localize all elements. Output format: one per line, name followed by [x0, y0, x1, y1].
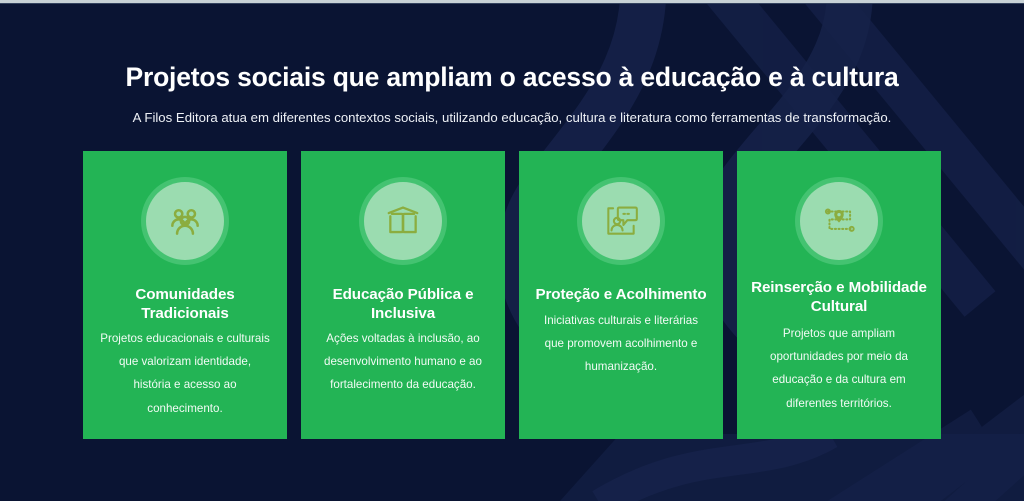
icon-ring — [577, 177, 665, 265]
route-map-pin-icon — [820, 202, 858, 240]
card-description: Projetos educacionais e culturais que va… — [93, 327, 277, 420]
icon-circle — [800, 182, 878, 260]
icon-ring — [359, 177, 447, 265]
card-description: Iniciativas culturais e literárias que p… — [529, 309, 713, 379]
project-cards-row: Comunidades Tradicionais Projetos educac… — [0, 151, 1024, 439]
card-title: Proteção e Acolhimento — [529, 286, 713, 305]
icon-circle — [582, 182, 660, 260]
card-title: Comunidades Tradicionais — [93, 286, 277, 323]
icon-circle — [146, 182, 224, 260]
card-description: Projetos que ampliam oportunidades por m… — [747, 322, 931, 415]
person-chat-icon — [602, 202, 640, 240]
card-description: Ações voltadas à inclusão, ao desenvolvi… — [311, 327, 495, 397]
icon-ring — [795, 177, 883, 265]
project-card-educacao-publica-inclusiva[interactable]: Educação Pública e Inclusiva Ações volta… — [301, 151, 505, 439]
page-subtitle: A Filos Editora atua em diferentes conte… — [0, 109, 1024, 126]
icon-circle — [364, 182, 442, 260]
project-card-reinsercao-mobilidade-cultural[interactable]: Reinserção e Mobilidade Cultural Projeto… — [737, 151, 941, 439]
card-title: Reinserção e Mobilidade Cultural — [747, 279, 931, 316]
card-title: Educação Pública e Inclusiva — [311, 286, 495, 323]
project-card-protecao-acolhimento[interactable]: Proteção e Acolhimento Iniciativas cultu… — [519, 151, 723, 439]
page-canvas: Projetos sociais que ampliam o acesso à … — [0, 4, 1024, 501]
page-title: Projetos sociais que ampliam o acesso à … — [0, 62, 1024, 94]
open-book-icon — [384, 202, 422, 240]
people-group-icon — [166, 202, 204, 240]
project-card-comunidades-tradicionais[interactable]: Comunidades Tradicionais Projetos educac… — [83, 151, 287, 439]
content-area: Projetos sociais que ampliam o acesso à … — [0, 4, 1024, 439]
browser-top-strip — [0, 0, 1024, 4]
icon-ring — [141, 177, 229, 265]
